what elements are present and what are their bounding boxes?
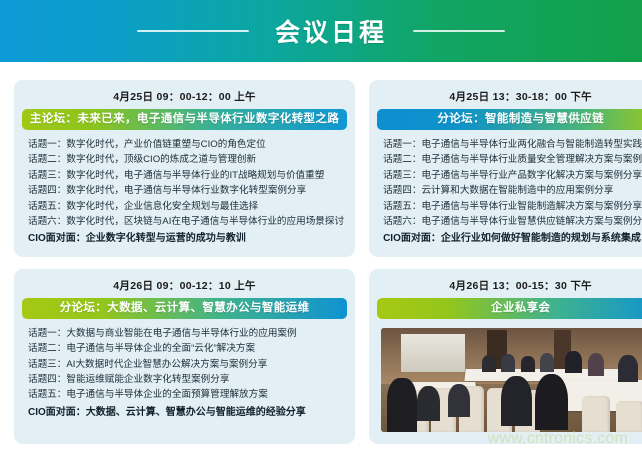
topic-item: 话题二：电子通信与半导体企业的全面“云化”解决方案 (28, 341, 344, 356)
photo-attendee (482, 355, 496, 372)
photo-attendee (535, 374, 569, 430)
topic-item: 话题二：电子通信与半导体行业质量安全管理解决方案与案例分享 (383, 152, 642, 167)
topic-item: 话题六：电子通信与半导体行业智慧供应链解决方案与案例分享 (383, 214, 642, 229)
photo-attendee (448, 384, 470, 417)
photo-attendee (387, 378, 418, 432)
topic-item: 话题一：数字化时代，产业价值链重塑与CIO的角色定位 (28, 137, 344, 152)
panel-title-badge: 企业私享会 (377, 298, 642, 319)
topic-item: 话题五：数字化时代，企业信息化安全规划与最佳选择 (28, 199, 344, 214)
banner-rule-left-icon (137, 30, 249, 32)
topic-item: 话题四：云计算和大数据在智能制造中的应用案例分享 (383, 183, 642, 198)
photo-chair (582, 396, 610, 431)
agenda-panel-bigdata-cloud[interactable]: 4月26日 09：00-12：10 上午 分论坛：大数据、云计算、智慧办公与智能… (14, 269, 355, 444)
topic-item: 话题三：数字化时代，电子通信与半导体行业的IT战略规划与价值重塑 (28, 168, 344, 183)
topic-item: 话题四：数字化时代，电子通信与半导体行业数字化转型案例分享 (28, 183, 344, 198)
panel-date: 4月26日 09：00-12：10 上午 (22, 276, 347, 298)
banner-rule-right-icon (413, 30, 505, 32)
cio-face-to-face-line: CIO面对面：企业行业如何做好智能制造的规划与系统集成 (383, 229, 642, 246)
panel-date: 4月26日 13：00-15：30 下午 (377, 276, 642, 298)
photo-attendee (417, 386, 439, 421)
topic-list: 话题一：大数据与商业智能在电子通信与半导体行业的应用案例 话题二：电子通信与半导… (22, 319, 347, 420)
topic-item: 话题三：AI大数据时代企业智慧办公解决方案与案例分享 (28, 357, 344, 372)
panel-title-badge: 主论坛：未来已来，电子通信与半导体行业数字化转型之路 (22, 109, 347, 130)
panel-title-badge: 分论坛：智能制造与智慧供应链 (377, 109, 642, 130)
photo-attendee (501, 354, 515, 372)
photo-attendee (540, 353, 554, 372)
topic-item: 话题二：数字化时代，顶级CIO的炼成之道与管理创新 (28, 152, 344, 167)
topic-item: 话题六：数字化时代，区块链与AI在电子通信与半导体行业的应用场景探讨 (28, 214, 344, 229)
photo-attendee (521, 356, 535, 372)
panel-title-badge: 分论坛：大数据、云计算、智慧办公与智能运维 (22, 298, 347, 319)
photo-attendee (565, 351, 582, 373)
photo-attendee (501, 376, 532, 426)
cio-face-to-face-line: CIO面对面：大数据、云计算、智慧办公与智能运维的经验分享 (28, 403, 344, 420)
topic-item: 话题一：大数据与商业智能在电子通信与半导体行业的应用案例 (28, 326, 344, 341)
topic-item: 话题三：电子通信与半导行业产品数字化解决方案与案例分享 (383, 168, 642, 183)
topic-item: 话题四：智能运维赋能企业数字化转型案例分享 (28, 372, 344, 387)
agenda-panel-private-session[interactable]: 4月26日 13：00-15：30 下午 企业私享会 (369, 269, 642, 444)
topic-item: 话题五：电子通信与半导体行业智能制造解决方案与案例分享 (383, 199, 642, 214)
panel-date: 4月25日 09：00-12：00 上午 (22, 87, 347, 109)
session-photo (381, 328, 642, 432)
site-watermark: www.cntronics.com (488, 430, 628, 448)
panel-date: 4月25日 13：30-18：00 下午 (377, 87, 642, 109)
agenda-panel-main-forum[interactable]: 4月25日 09：00-12：00 上午 主论坛：未来已来，电子通信与半导体行业… (14, 80, 355, 257)
cio-face-to-face-line: CIO面对面：企业数字化转型与运营的成功与教训 (28, 229, 344, 246)
agenda-grid: 4月25日 09：00-12：00 上午 主论坛：未来已来，电子通信与半导体行业… (14, 80, 628, 444)
agenda-sheet: 4月25日 09：00-12：00 上午 主论坛：未来已来，电子通信与半导体行业… (0, 62, 642, 454)
photo-attendee (618, 355, 638, 382)
photo-projection-screen (401, 334, 465, 371)
topic-list: 话题一：数字化时代，产业价值链重塑与CIO的角色定位 话题二：数字化时代，顶级C… (22, 130, 347, 247)
photo-chair (616, 401, 642, 432)
agenda-panel-smart-manufacturing[interactable]: 4月25日 13：30-18：00 下午 分论坛：智能制造与智慧供应链 话题一：… (369, 80, 642, 257)
topic-item: 话题五：电子通信与半导体企业的全面预算管理解放方案 (28, 387, 344, 402)
banner-content: 会议日程 (137, 13, 505, 49)
photo-attendee (588, 353, 605, 376)
topic-item: 话题一：电子通信与半导体行业两化融合与智能制造转型实践 (383, 137, 642, 152)
page-header-banner: 会议日程 (0, 0, 642, 62)
page-title: 会议日程 (275, 13, 387, 49)
session-photo-image (381, 328, 642, 432)
topic-list: 话题一：电子通信与半导体行业两化融合与智能制造转型实践 话题二：电子通信与半导体… (377, 130, 642, 247)
